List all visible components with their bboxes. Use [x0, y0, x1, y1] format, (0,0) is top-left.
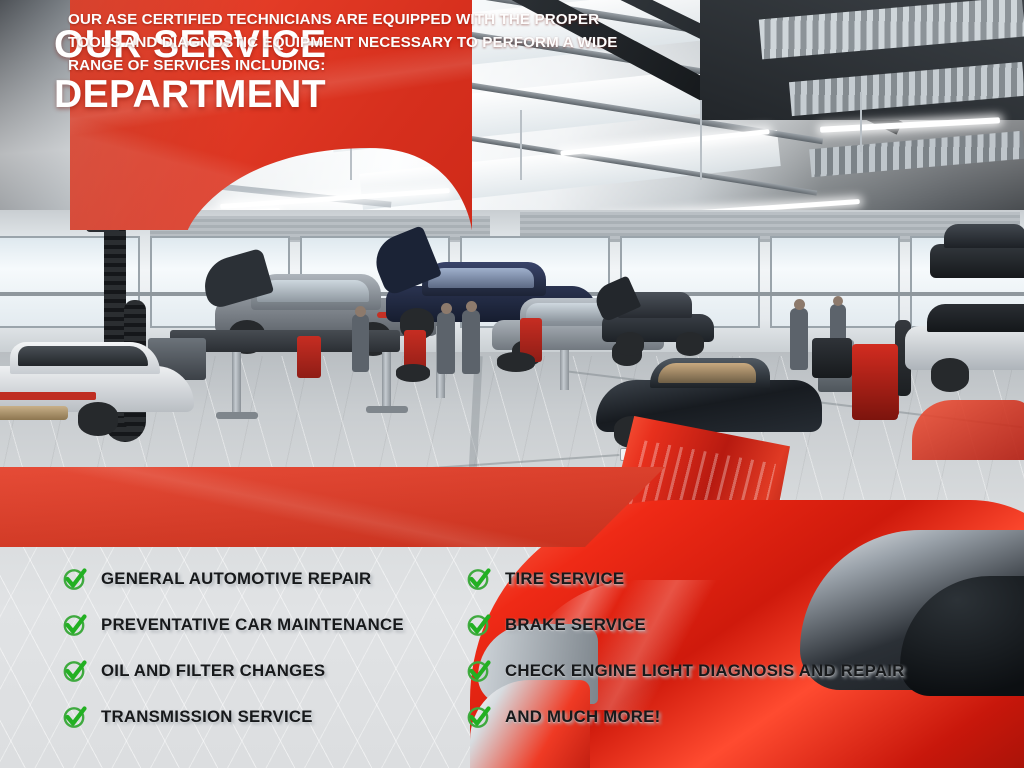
red-car-rear-deck [912, 400, 1024, 460]
list-item-label: TRANSMISSION SERVICE [101, 707, 313, 727]
lift-post [232, 342, 241, 416]
hanger-rod [520, 110, 522, 180]
services-column-right: TIRE SERVICE BRAKE SERVICE [466, 556, 1018, 740]
green-check-circle-icon [466, 704, 492, 730]
mechanic-head [794, 299, 805, 310]
green-check-circle-icon [466, 658, 492, 684]
green-check-circle-icon [466, 566, 492, 592]
banner-sheen [0, 467, 665, 547]
list-item[interactable]: CHECK ENGINE LIGHT DIAGNOSIS AND REPAIR [466, 648, 1018, 694]
list-item[interactable]: GENERAL AUTOMOTIVE REPAIR [62, 556, 462, 602]
red-tool-cart [852, 344, 898, 420]
tool-cabinet [297, 336, 321, 378]
car-white-classic [0, 336, 200, 432]
loose-tire [396, 364, 430, 382]
info-banner [0, 467, 665, 547]
hanger-rod [860, 92, 862, 152]
poster-canvas: E3 20 UAJ [0, 0, 1024, 768]
lift-base [366, 406, 408, 413]
list-item[interactable]: PREVENTATIVE CAR MAINTENANCE [62, 602, 462, 648]
car-silver-right [905, 300, 1024, 390]
list-item-label: CHECK ENGINE LIGHT DIAGNOSIS AND REPAIR [505, 661, 904, 681]
list-item[interactable]: TRANSMISSION SERVICE [62, 694, 462, 740]
green-check-circle-icon [62, 704, 88, 730]
list-item[interactable]: OIL AND FILTER CHANGES [62, 648, 462, 694]
mechanic [437, 312, 455, 374]
green-check-circle-icon [466, 612, 492, 638]
lift-base [216, 412, 258, 419]
mechanic [462, 310, 480, 374]
green-check-circle-icon [62, 658, 88, 684]
mechanic-head [355, 306, 366, 317]
green-check-circle-icon [62, 566, 88, 592]
mechanic-head [466, 301, 477, 312]
mechanic-head [441, 303, 452, 314]
services-list: GENERAL AUTOMOTIVE REPAIR PREVENTATIVE C… [0, 556, 1024, 736]
mechanic-head [833, 296, 843, 306]
page-title-line2: DEPARTMENT [54, 70, 394, 120]
tail-light-bar [0, 392, 96, 400]
list-item-label: GENERAL AUTOMOTIVE REPAIR [101, 569, 371, 589]
list-item-label: BRAKE SERVICE [505, 615, 646, 635]
list-item-label: OIL AND FILTER CHANGES [101, 661, 325, 681]
car-dark-top-right [930, 222, 1024, 292]
equipment-case [812, 338, 852, 378]
info-banner-text: OUR ASE CERTIFIED TECHNICIANS ARE EQUIPP… [68, 8, 628, 77]
green-check-circle-icon [62, 612, 88, 638]
car-dark-open-trunk [600, 286, 718, 356]
mechanic [352, 314, 369, 372]
hanger-rod [700, 100, 702, 180]
list-item[interactable]: BRAKE SERVICE [466, 602, 1018, 648]
list-item[interactable]: AND MUCH MORE! [466, 694, 1018, 740]
list-item[interactable]: TIRE SERVICE [466, 556, 1018, 602]
services-column-left: GENERAL AUTOMOTIVE REPAIR PREVENTATIVE C… [62, 556, 462, 740]
list-item-label: TIRE SERVICE [505, 569, 624, 589]
list-item-label: PREVENTATIVE CAR MAINTENANCE [101, 615, 404, 635]
list-item-label: AND MUCH MORE! [505, 707, 660, 727]
loose-tire [497, 352, 535, 372]
